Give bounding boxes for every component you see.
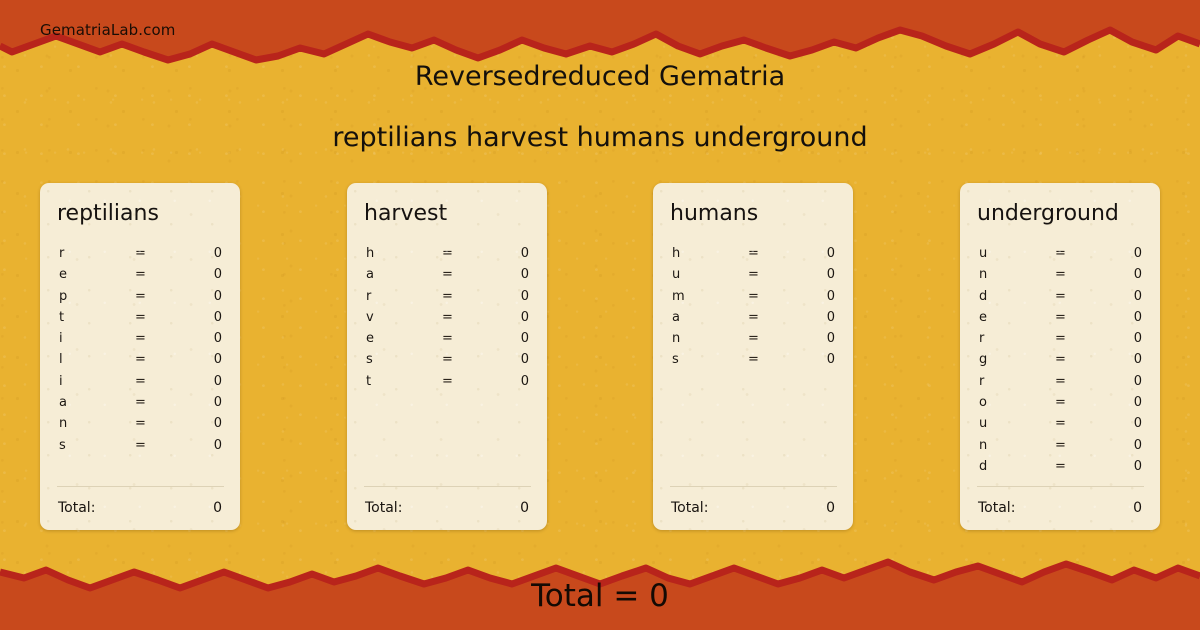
letter-row-list: h=0u=0m=0a=0n=0s=0 bbox=[653, 243, 853, 371]
letter-row-list: u=0n=0d=0e=0r=0g=0r=0o=0u=0n=0d=0 bbox=[960, 243, 1160, 477]
equals-sign: = bbox=[135, 349, 146, 370]
letter-label: s bbox=[59, 435, 66, 456]
letter-value: 0 bbox=[1134, 264, 1142, 285]
equals-sign: = bbox=[135, 435, 146, 456]
equals-sign: = bbox=[442, 243, 453, 264]
letter-label: t bbox=[59, 307, 64, 328]
letter-value: 0 bbox=[827, 264, 835, 285]
letter-label: e bbox=[979, 307, 987, 328]
letter-row: u=0 bbox=[653, 264, 853, 285]
equals-sign: = bbox=[135, 286, 146, 307]
letter-row: r=0 bbox=[960, 328, 1160, 349]
letter-value: 0 bbox=[827, 307, 835, 328]
card-total-value: 0 bbox=[520, 498, 529, 518]
card-total-row: Total:0 bbox=[960, 498, 1160, 518]
letter-value: 0 bbox=[214, 349, 222, 370]
letter-label: r bbox=[366, 286, 371, 307]
letter-label: h bbox=[366, 243, 374, 264]
letter-row: l=0 bbox=[40, 349, 240, 370]
equals-sign: = bbox=[442, 286, 453, 307]
grand-total: Total = 0 bbox=[0, 578, 1200, 614]
letter-row: g=0 bbox=[960, 349, 1160, 370]
letter-row: e=0 bbox=[960, 307, 1160, 328]
letter-value: 0 bbox=[214, 392, 222, 413]
letter-row: i=0 bbox=[40, 328, 240, 349]
letter-label: r bbox=[979, 371, 984, 392]
card-total-label: Total: bbox=[671, 498, 708, 518]
letter-label: g bbox=[979, 349, 987, 370]
letter-row: t=0 bbox=[40, 307, 240, 328]
equals-sign: = bbox=[1055, 307, 1066, 328]
site-watermark: GematriaLab.com bbox=[40, 21, 175, 39]
letter-label: i bbox=[59, 371, 63, 392]
equals-sign: = bbox=[1055, 435, 1066, 456]
letter-value: 0 bbox=[521, 349, 529, 370]
letter-row: n=0 bbox=[653, 328, 853, 349]
letter-row: e=0 bbox=[40, 264, 240, 285]
letter-value: 0 bbox=[827, 243, 835, 264]
letter-value: 0 bbox=[1134, 456, 1142, 477]
letter-row: p=0 bbox=[40, 286, 240, 307]
letter-row: s=0 bbox=[347, 349, 547, 370]
equals-sign: = bbox=[135, 243, 146, 264]
letter-row: h=0 bbox=[653, 243, 853, 264]
card-total-label: Total: bbox=[365, 498, 402, 518]
letter-row: r=0 bbox=[960, 371, 1160, 392]
letter-value: 0 bbox=[827, 328, 835, 349]
equals-sign: = bbox=[748, 328, 759, 349]
letter-row: d=0 bbox=[960, 286, 1160, 307]
equals-sign: = bbox=[1055, 328, 1066, 349]
letter-row: e=0 bbox=[347, 328, 547, 349]
word-card-title: underground bbox=[977, 201, 1119, 226]
card-total-value: 0 bbox=[213, 498, 222, 518]
card-total-label: Total: bbox=[58, 498, 95, 518]
gematria-card-image: GematriaLab.com Reversedreduced Gematria… bbox=[0, 0, 1200, 630]
letter-row: n=0 bbox=[960, 435, 1160, 456]
letter-label: l bbox=[59, 349, 63, 370]
letter-row: s=0 bbox=[40, 435, 240, 456]
word-card-list: reptiliansr=0e=0p=0t=0i=0l=0i=0a=0n=0s=0… bbox=[0, 183, 1200, 531]
letter-row: m=0 bbox=[653, 286, 853, 307]
letter-label: v bbox=[366, 307, 374, 328]
card-divider bbox=[364, 486, 531, 487]
letter-value: 0 bbox=[1134, 413, 1142, 434]
word-card-title: reptilians bbox=[57, 201, 159, 226]
top-decorative-band bbox=[0, 0, 1200, 70]
top-band-shape bbox=[0, 0, 1200, 70]
equals-sign: = bbox=[442, 371, 453, 392]
equals-sign: = bbox=[442, 328, 453, 349]
equals-sign: = bbox=[135, 413, 146, 434]
letter-value: 0 bbox=[214, 264, 222, 285]
letter-label: o bbox=[979, 392, 987, 413]
letter-label: h bbox=[672, 243, 680, 264]
letter-value: 0 bbox=[214, 371, 222, 392]
letter-value: 0 bbox=[521, 307, 529, 328]
letter-label: u bbox=[979, 413, 987, 434]
letter-value: 0 bbox=[1134, 307, 1142, 328]
letter-value: 0 bbox=[521, 328, 529, 349]
card-total-row: Total:0 bbox=[40, 498, 240, 518]
letter-row: r=0 bbox=[40, 243, 240, 264]
letter-label: u bbox=[979, 243, 987, 264]
letter-label: e bbox=[59, 264, 67, 285]
letter-label: d bbox=[979, 286, 987, 307]
letter-label: s bbox=[672, 349, 679, 370]
letter-value: 0 bbox=[1134, 328, 1142, 349]
letter-row: s=0 bbox=[653, 349, 853, 370]
letter-row-list: r=0e=0p=0t=0i=0l=0i=0a=0n=0s=0 bbox=[40, 243, 240, 456]
equals-sign: = bbox=[442, 349, 453, 370]
letter-row: u=0 bbox=[960, 413, 1160, 434]
equals-sign: = bbox=[1055, 371, 1066, 392]
letter-label: p bbox=[59, 286, 67, 307]
letter-value: 0 bbox=[214, 286, 222, 307]
letter-row: a=0 bbox=[653, 307, 853, 328]
card-total-row: Total:0 bbox=[653, 498, 853, 518]
equals-sign: = bbox=[442, 307, 453, 328]
letter-label: r bbox=[59, 243, 64, 264]
letter-label: n bbox=[672, 328, 680, 349]
equals-sign: = bbox=[1055, 349, 1066, 370]
letter-value: 0 bbox=[1134, 286, 1142, 307]
equals-sign: = bbox=[442, 264, 453, 285]
equals-sign: = bbox=[1055, 392, 1066, 413]
letter-label: a bbox=[59, 392, 67, 413]
letter-row: a=0 bbox=[40, 392, 240, 413]
letter-value: 0 bbox=[1134, 371, 1142, 392]
letter-value: 0 bbox=[521, 264, 529, 285]
equals-sign: = bbox=[1055, 243, 1066, 264]
letter-row: u=0 bbox=[960, 243, 1160, 264]
letter-label: m bbox=[672, 286, 685, 307]
page-title: Reversedreduced Gematria bbox=[0, 61, 1200, 92]
word-card-title: harvest bbox=[364, 201, 447, 226]
letter-label: n bbox=[979, 435, 987, 456]
letter-row: t=0 bbox=[347, 371, 547, 392]
card-divider bbox=[670, 486, 837, 487]
letter-value: 0 bbox=[1134, 243, 1142, 264]
letter-value: 0 bbox=[521, 371, 529, 392]
letter-row: i=0 bbox=[40, 371, 240, 392]
equals-sign: = bbox=[748, 307, 759, 328]
letter-value: 0 bbox=[1134, 392, 1142, 413]
letter-value: 0 bbox=[827, 286, 835, 307]
equals-sign: = bbox=[135, 328, 146, 349]
equals-sign: = bbox=[1055, 413, 1066, 434]
letter-row: v=0 bbox=[347, 307, 547, 328]
letter-row: r=0 bbox=[347, 286, 547, 307]
equals-sign: = bbox=[748, 264, 759, 285]
letter-value: 0 bbox=[1134, 435, 1142, 456]
letter-label: i bbox=[59, 328, 63, 349]
letter-label: e bbox=[366, 328, 374, 349]
letter-value: 0 bbox=[521, 243, 529, 264]
equals-sign: = bbox=[748, 349, 759, 370]
letter-row: h=0 bbox=[347, 243, 547, 264]
phrase-heading: reptilians harvest humans underground bbox=[0, 122, 1200, 153]
equals-sign: = bbox=[1055, 286, 1066, 307]
word-card: undergroundu=0n=0d=0e=0r=0g=0r=0o=0u=0n=… bbox=[960, 183, 1160, 530]
letter-row-list: h=0a=0r=0v=0e=0s=0t=0 bbox=[347, 243, 547, 392]
letter-value: 0 bbox=[1134, 349, 1142, 370]
letter-value: 0 bbox=[827, 349, 835, 370]
equals-sign: = bbox=[135, 264, 146, 285]
letter-label: n bbox=[979, 264, 987, 285]
word-card: reptiliansr=0e=0p=0t=0i=0l=0i=0a=0n=0s=0… bbox=[40, 183, 240, 530]
letter-value: 0 bbox=[214, 307, 222, 328]
letter-row: d=0 bbox=[960, 456, 1160, 477]
equals-sign: = bbox=[1055, 456, 1066, 477]
word-card-title: humans bbox=[670, 201, 758, 226]
equals-sign: = bbox=[135, 307, 146, 328]
letter-row: n=0 bbox=[40, 413, 240, 434]
card-total-label: Total: bbox=[978, 498, 1015, 518]
letter-row: n=0 bbox=[960, 264, 1160, 285]
letter-label: u bbox=[672, 264, 680, 285]
equals-sign: = bbox=[135, 392, 146, 413]
card-total-value: 0 bbox=[1133, 498, 1142, 518]
equals-sign: = bbox=[1055, 264, 1066, 285]
letter-row: o=0 bbox=[960, 392, 1160, 413]
letter-label: d bbox=[979, 456, 987, 477]
letter-row: a=0 bbox=[347, 264, 547, 285]
letter-label: a bbox=[366, 264, 374, 285]
letter-label: r bbox=[979, 328, 984, 349]
letter-value: 0 bbox=[214, 435, 222, 456]
equals-sign: = bbox=[135, 371, 146, 392]
letter-value: 0 bbox=[214, 328, 222, 349]
card-total-row: Total:0 bbox=[347, 498, 547, 518]
letter-label: s bbox=[366, 349, 373, 370]
letter-label: a bbox=[672, 307, 680, 328]
word-card: humansh=0u=0m=0a=0n=0s=0Total:0 bbox=[653, 183, 853, 530]
word-card: harvesth=0a=0r=0v=0e=0s=0t=0Total:0 bbox=[347, 183, 547, 530]
letter-label: t bbox=[366, 371, 371, 392]
equals-sign: = bbox=[748, 243, 759, 264]
letter-value: 0 bbox=[521, 286, 529, 307]
card-total-value: 0 bbox=[826, 498, 835, 518]
letter-value: 0 bbox=[214, 243, 222, 264]
letter-label: n bbox=[59, 413, 67, 434]
letter-value: 0 bbox=[214, 413, 222, 434]
card-divider bbox=[977, 486, 1144, 487]
card-divider bbox=[57, 486, 224, 487]
equals-sign: = bbox=[748, 286, 759, 307]
